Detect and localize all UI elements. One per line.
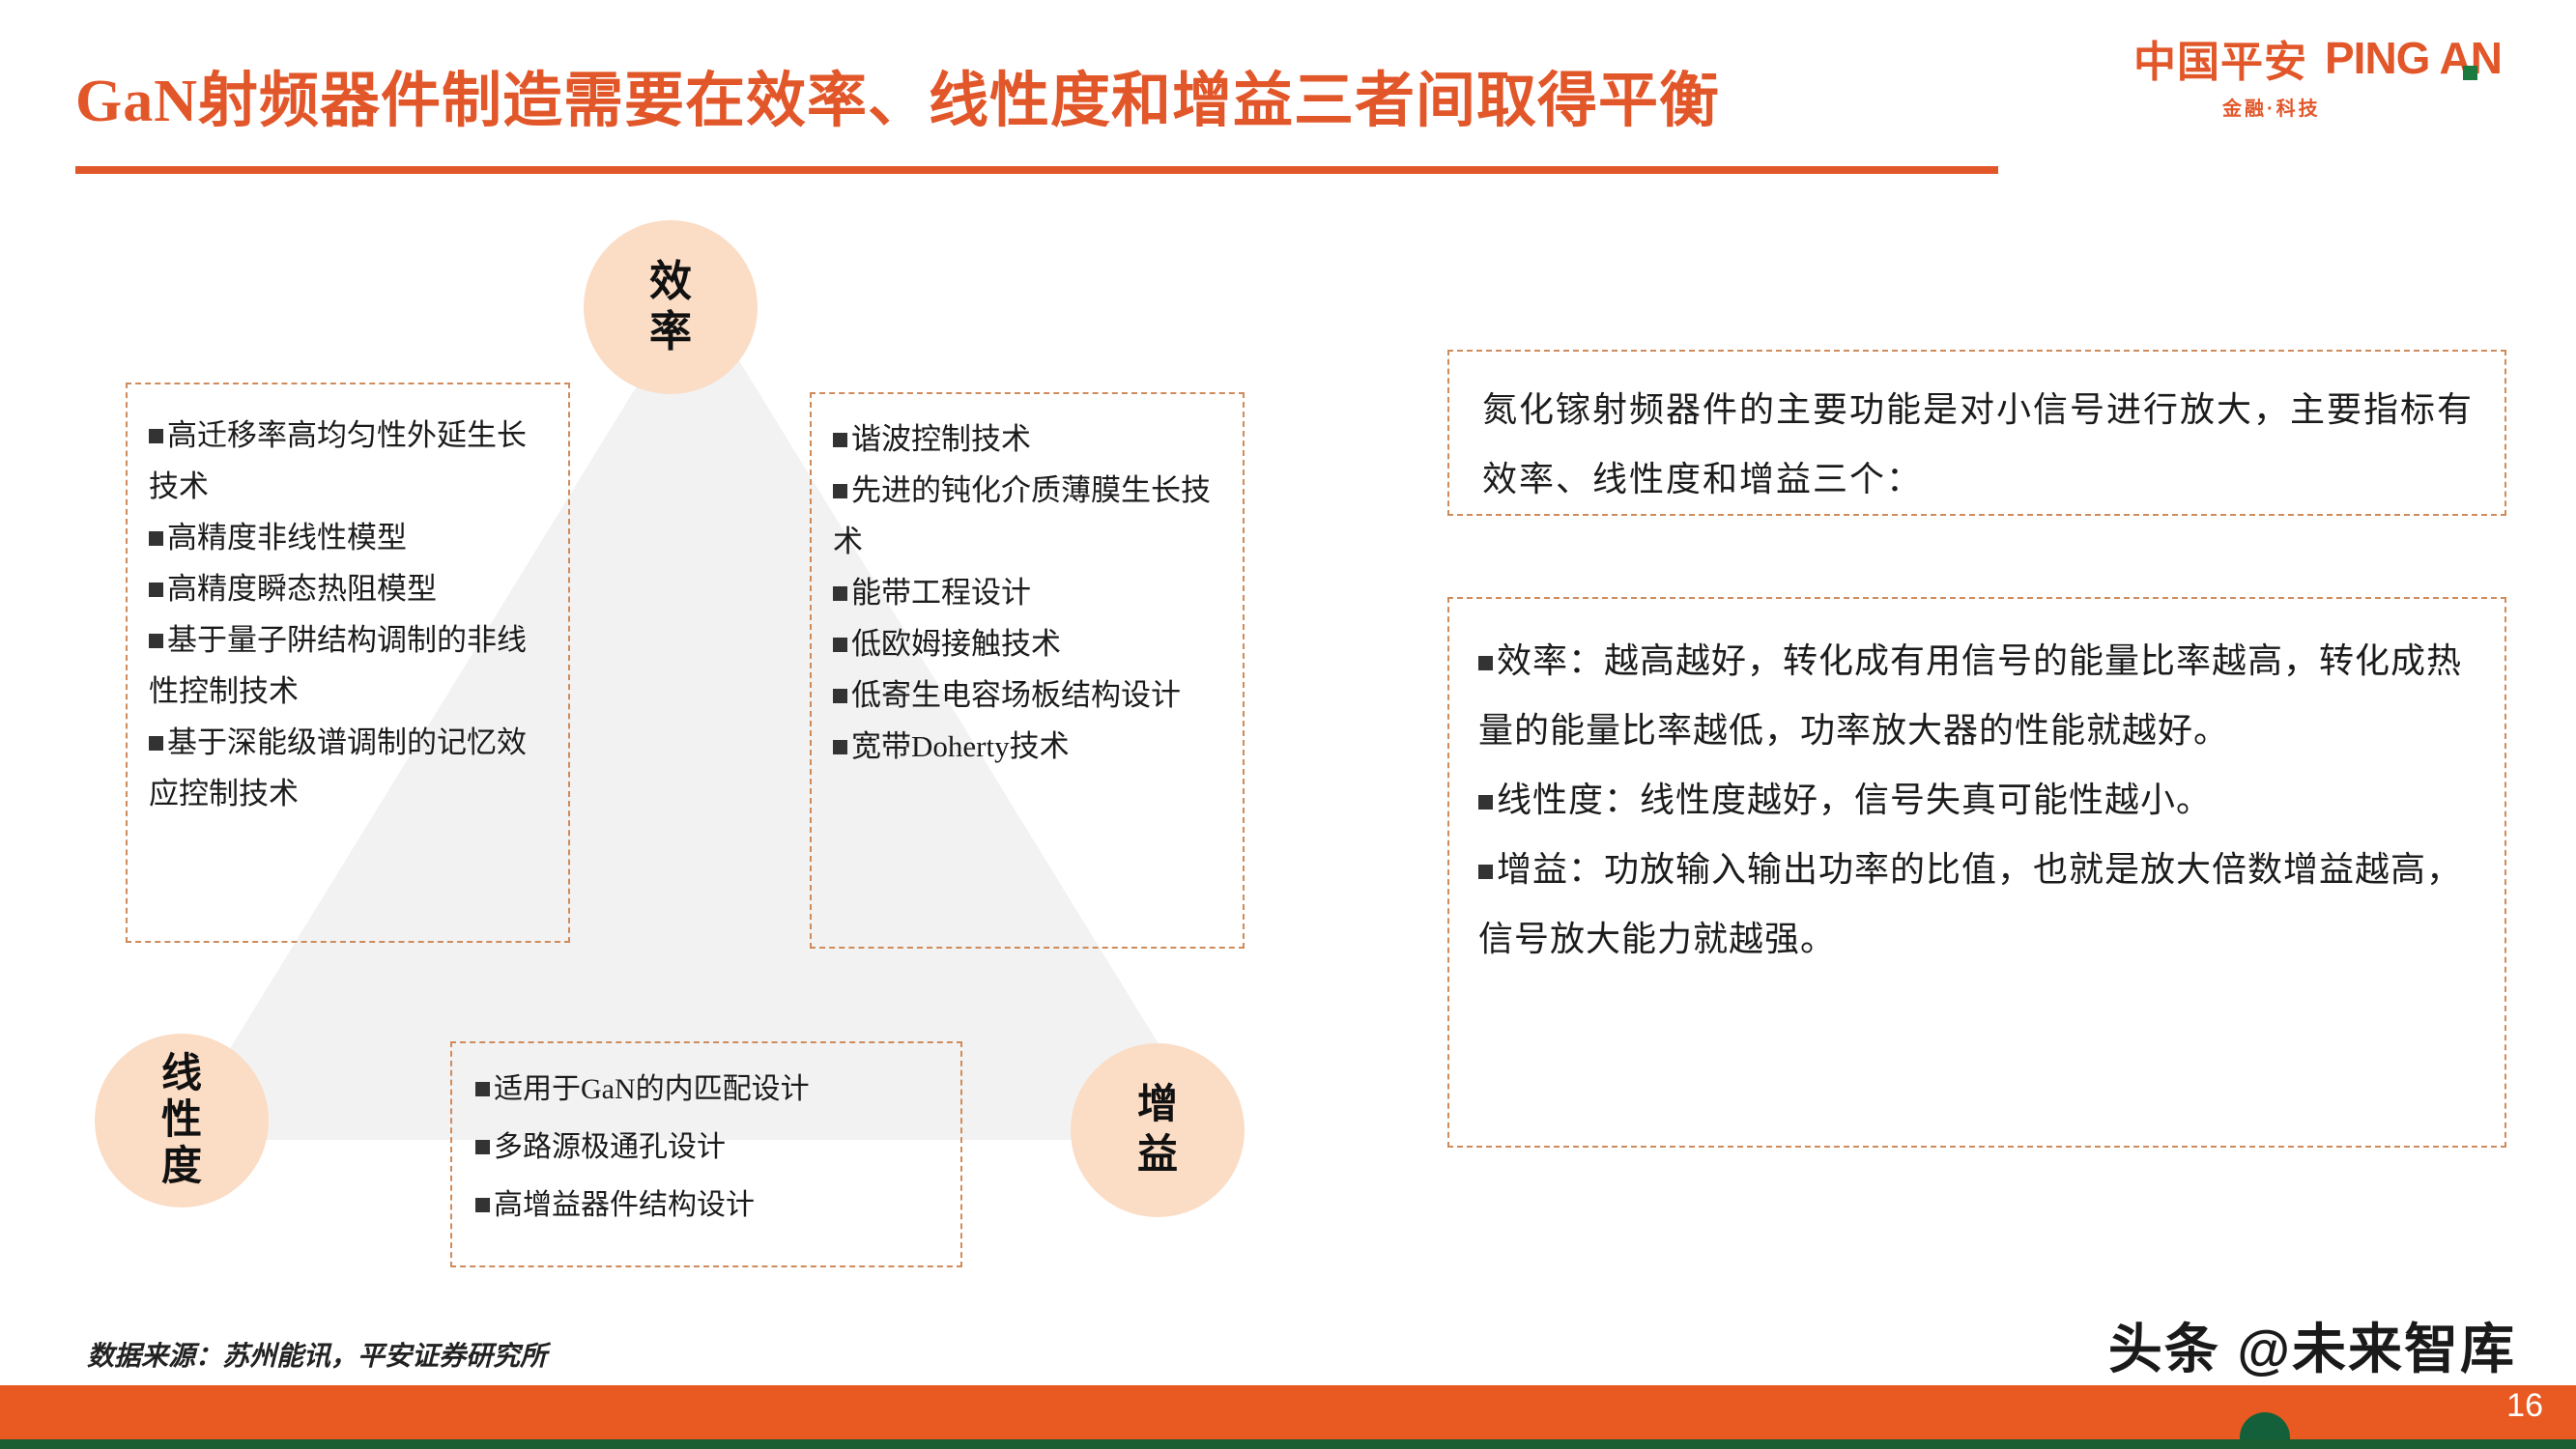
node-efficiency: 效 率 bbox=[584, 220, 758, 394]
square-bullet-icon bbox=[833, 484, 847, 498]
node-linearity-label: 线 性 度 bbox=[161, 1051, 202, 1190]
node-linearity-char-2: 性 bbox=[161, 1097, 202, 1144]
node-linearity-char-3: 度 bbox=[161, 1144, 202, 1190]
right-intro-box: 氮化镓射频器件的主要功能是对小信号进行放大，主要指标有效率、线性度和增益三个： bbox=[1447, 350, 2506, 516]
logo-green-square-icon bbox=[2463, 66, 2477, 80]
tech-box-bottom: 适用于GaN的内匹配设计 多路源极通孔设计 高增益器件结构设计 bbox=[450, 1041, 962, 1267]
node-efficiency-char-1: 效 bbox=[649, 257, 692, 307]
list-item: 基于深能级谱调制的记忆效应控制技术 bbox=[149, 717, 551, 819]
logo-chinese-name: 中国平安 bbox=[2133, 27, 2307, 89]
square-bullet-icon bbox=[833, 689, 847, 703]
node-gain-char-2: 益 bbox=[1137, 1130, 1178, 1180]
list-item: 高精度瞬态热阻模型 bbox=[149, 563, 551, 614]
list-item: 能带工程设计 bbox=[833, 567, 1229, 618]
page-title: GaN射频器件制造需要在效率、线性度和增益三者间取得平衡 bbox=[75, 60, 2085, 143]
list-item: 适用于GaN的内匹配设计 bbox=[475, 1061, 947, 1119]
footer-orange-bar bbox=[0, 1385, 2576, 1441]
square-bullet-icon bbox=[475, 1198, 490, 1212]
square-bullet-icon bbox=[149, 736, 163, 751]
list-item: 宽带Doherty技术 bbox=[833, 721, 1229, 772]
tech-box-bottom-list: 适用于GaN的内匹配设计 多路源极通孔设计 高增益器件结构设计 bbox=[475, 1061, 947, 1235]
node-gain-label: 增 益 bbox=[1137, 1080, 1178, 1180]
square-bullet-icon bbox=[149, 531, 163, 546]
square-bullet-icon bbox=[833, 586, 847, 601]
logo-english-name: PING AN bbox=[2325, 32, 2502, 84]
square-bullet-icon bbox=[149, 634, 163, 648]
right-intro-text: 氮化镓射频器件的主要功能是对小信号进行放大，主要指标有效率、线性度和增益三个： bbox=[1482, 375, 2483, 514]
logo-wordmark-row: 中国平安 PING AN bbox=[2133, 27, 2539, 89]
slide-root: 中国平安 PING AN 金融·科技 GaN射频器件制造需要在效率、线性度和增益… bbox=[0, 0, 2576, 1449]
list-item: 增益：功放输入输出功率的比值，也就是放大倍数增益越高，信号放大能力就越强。 bbox=[1478, 835, 2483, 974]
node-efficiency-label: 效 率 bbox=[649, 257, 692, 357]
right-metrics-box: 效率：越高越好，转化成有用信号的能量比率越高，转化成热量的能量比率越低，功率放大… bbox=[1447, 597, 2506, 1148]
page-number: 16 bbox=[2506, 1387, 2543, 1425]
list-item: 高精度非线性模型 bbox=[149, 512, 551, 563]
tech-box-left: 高迁移率高均匀性外延生长技术 高精度非线性模型 高精度瞬态热阻模型 基于量子阱结… bbox=[126, 383, 570, 943]
square-bullet-icon bbox=[833, 433, 847, 447]
list-item: 基于量子阱结构调制的非线性控制技术 bbox=[149, 614, 551, 717]
footer-green-strip bbox=[0, 1439, 2576, 1449]
logo-tagline: 金融·科技 bbox=[2222, 93, 2539, 121]
list-item: 先进的钝化介质薄膜生长技术 bbox=[833, 465, 1229, 567]
square-bullet-icon bbox=[149, 429, 163, 443]
pingan-logo: 中国平安 PING AN 金融·科技 bbox=[2133, 27, 2539, 116]
square-bullet-icon bbox=[833, 638, 847, 652]
square-bullet-icon bbox=[1478, 656, 1493, 670]
node-gain-char-1: 增 bbox=[1137, 1080, 1178, 1130]
square-bullet-icon bbox=[149, 582, 163, 597]
square-bullet-icon bbox=[1478, 795, 1493, 810]
list-item: 高增益器件结构设计 bbox=[475, 1177, 947, 1235]
tech-box-middle-list: 谐波控制技术 先进的钝化介质薄膜生长技术 能带工程设计 低欧姆接触技术 低寄生电… bbox=[833, 413, 1229, 772]
node-gain: 增 益 bbox=[1071, 1043, 1245, 1217]
list-item: 效率：越高越好，转化成有用信号的能量比率越高，转化成热量的能量比率越低，功率放大… bbox=[1478, 626, 2483, 765]
node-linearity: 线 性 度 bbox=[95, 1034, 269, 1207]
node-linearity-char-1: 线 bbox=[161, 1051, 202, 1097]
tech-box-left-list: 高迁移率高均匀性外延生长技术 高精度非线性模型 高精度瞬态热阻模型 基于量子阱结… bbox=[149, 410, 551, 819]
square-bullet-icon bbox=[475, 1082, 490, 1096]
watermark-text: 头条 @未来智库 bbox=[2108, 1306, 2516, 1384]
square-bullet-icon bbox=[475, 1140, 490, 1154]
list-item: 线性度：线性度越好，信号失真可能性越小。 bbox=[1478, 765, 2483, 835]
data-source-note: 数据来源：苏州能讯，平安证券研究所 bbox=[87, 1335, 547, 1374]
title-underline-rule bbox=[75, 166, 1998, 174]
square-bullet-icon bbox=[833, 740, 847, 754]
list-item: 低欧姆接触技术 bbox=[833, 618, 1229, 669]
node-efficiency-char-2: 率 bbox=[649, 307, 692, 357]
list-item: 谐波控制技术 bbox=[833, 413, 1229, 465]
tech-box-middle: 谐波控制技术 先进的钝化介质薄膜生长技术 能带工程设计 低欧姆接触技术 低寄生电… bbox=[810, 392, 1245, 949]
list-item: 多路源极通孔设计 bbox=[475, 1119, 947, 1177]
right-metrics-list: 效率：越高越好，转化成有用信号的能量比率越高，转化成热量的能量比率越低，功率放大… bbox=[1478, 626, 2483, 974]
square-bullet-icon bbox=[1478, 865, 1493, 879]
list-item: 低寄生电容场板结构设计 bbox=[833, 669, 1229, 721]
list-item: 高迁移率高均匀性外延生长技术 bbox=[149, 410, 551, 512]
